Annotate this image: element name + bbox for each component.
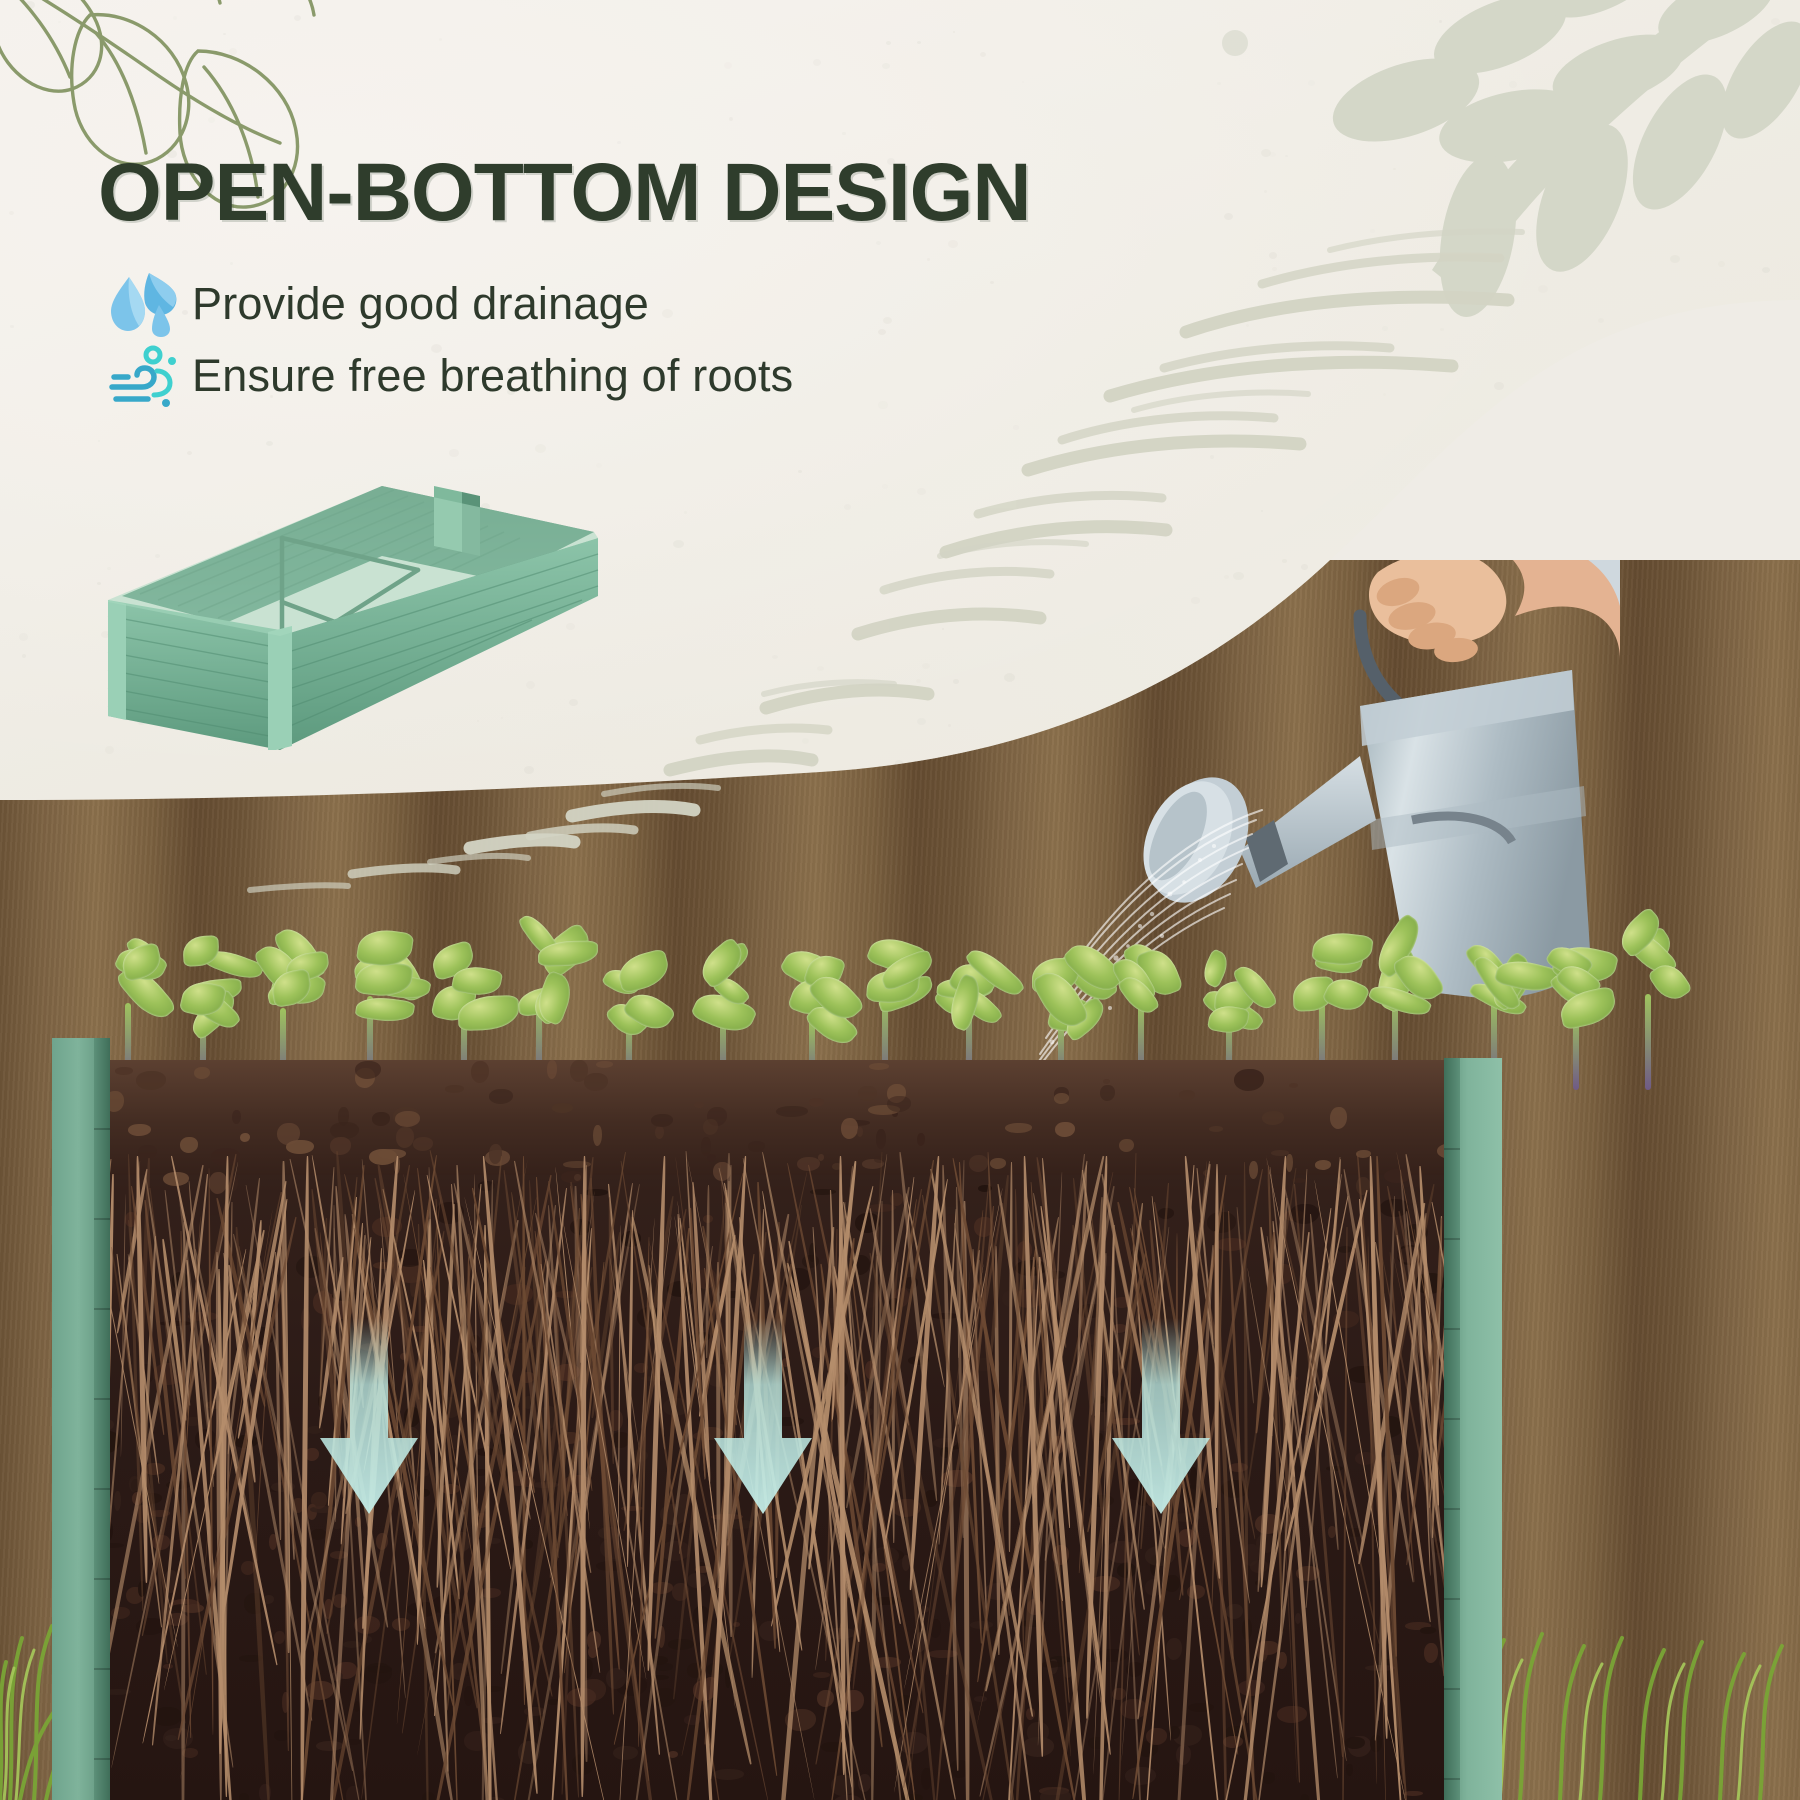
- bed-panel-right: [1444, 1058, 1502, 1800]
- seedling: [1606, 936, 1690, 1090]
- raised-garden-bed-3d: [82, 420, 602, 750]
- list-item-label: Ensure free breathing of roots: [192, 350, 793, 402]
- wind-airflow-icon: [100, 340, 192, 412]
- drainage-arrow: [1106, 1318, 1216, 1518]
- drainage-arrow: [708, 1318, 818, 1518]
- decor-dot-tiny: [1222, 30, 1248, 56]
- list-item: Ensure free breathing of roots: [100, 340, 793, 412]
- drainage-arrow: [314, 1318, 424, 1518]
- list-item: Provide good drainage: [100, 268, 793, 340]
- feature-list: Provide good drainage: [100, 268, 793, 412]
- page-title: OPEN-BOTTOM DESIGN: [98, 152, 1031, 234]
- water-drops-icon: [100, 268, 192, 340]
- list-item-label: Provide good drainage: [192, 278, 649, 330]
- sage-leaf-branch-icon: [1200, 0, 1800, 350]
- infographic-canvas: OPEN-BOTTOM DESIGN Provide good drainage: [0, 0, 1800, 1800]
- bed-panel-left: [52, 1038, 110, 1800]
- soil-cross-section: [86, 1060, 1486, 1800]
